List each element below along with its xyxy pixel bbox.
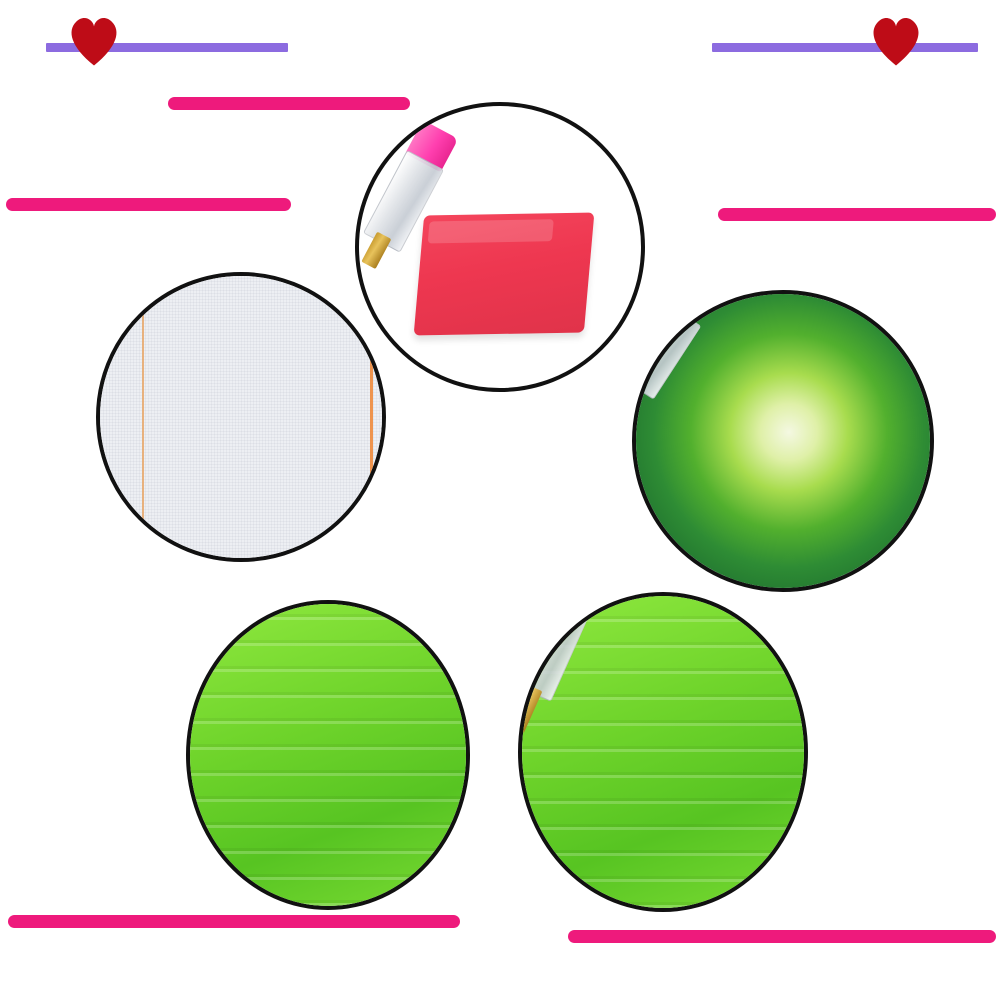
canvas-margin-line xyxy=(142,276,144,558)
step-4-label xyxy=(568,930,996,943)
step-5-label xyxy=(718,208,996,221)
pen-tip xyxy=(361,232,391,270)
photo-pen-in-gel xyxy=(355,102,645,392)
decorative-rule-right xyxy=(712,43,978,52)
gel-pad xyxy=(414,213,595,336)
photo-canvas-symbol xyxy=(632,290,934,592)
heart-icon xyxy=(868,14,924,70)
step-3-label xyxy=(8,915,460,928)
photo-diamond-tray xyxy=(186,600,470,910)
photo-gel-scene xyxy=(359,106,641,388)
green-tray xyxy=(190,604,466,906)
canvas-edge-line xyxy=(370,276,373,558)
photo-color-chart xyxy=(96,272,386,562)
step-2-label xyxy=(6,198,291,211)
photo-press-pen xyxy=(518,592,808,912)
header-banner xyxy=(0,0,1001,84)
heart-icon xyxy=(66,14,122,70)
